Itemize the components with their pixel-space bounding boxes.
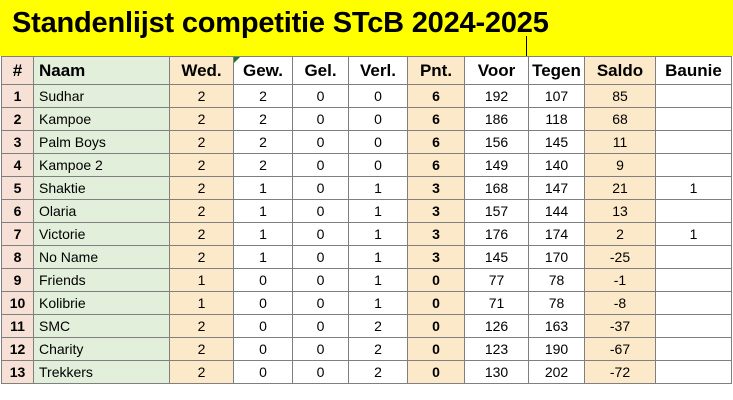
cell-gel[interactable]: 0 (293, 292, 349, 315)
cell-pnt[interactable]: 3 (408, 223, 465, 246)
cell-gew[interactable]: 0 (234, 315, 293, 338)
table-row[interactable]: 3Palm Boys2200615614511 (2, 131, 732, 154)
cell-baunie[interactable] (656, 315, 732, 338)
cell-pnt[interactable]: 0 (408, 338, 465, 361)
cell-naam[interactable]: Olaria (34, 200, 170, 223)
cell-saldo[interactable]: -1 (585, 269, 656, 292)
table-row[interactable]: 7Victorie2101317617421 (2, 223, 732, 246)
cell-gel[interactable]: 0 (293, 338, 349, 361)
cell-rank[interactable]: 7 (2, 223, 34, 246)
cell-saldo[interactable]: 21 (585, 177, 656, 200)
cell-naam[interactable]: Kampoe 2 (34, 154, 170, 177)
cell-tegen[interactable]: 145 (529, 131, 585, 154)
cell-gel[interactable]: 0 (293, 131, 349, 154)
column-header-baunie[interactable]: Baunie (656, 57, 732, 85)
cell-naam[interactable]: Trekkers (34, 361, 170, 384)
cell-voor[interactable]: 126 (465, 315, 529, 338)
cell-rank[interactable]: 12 (2, 338, 34, 361)
cell-verl[interactable]: 0 (349, 131, 408, 154)
column-header-gew[interactable]: Gew. (234, 57, 293, 85)
cell-verl[interactable]: 1 (349, 177, 408, 200)
table-header: #NaamWed.Gew.Gel.Verl.Pnt.VoorTegenSaldo… (2, 57, 732, 85)
cell-tegen[interactable]: 170 (529, 246, 585, 269)
cell-voor[interactable]: 157 (465, 200, 529, 223)
cell-baunie[interactable] (656, 154, 732, 177)
cell-gew[interactable]: 1 (234, 200, 293, 223)
cell-gew[interactable]: 0 (234, 292, 293, 315)
standings-table: #NaamWed.Gew.Gel.Verl.Pnt.VoorTegenSaldo… (1, 56, 732, 384)
cell-rank[interactable]: 1 (2, 85, 34, 108)
table-row[interactable]: 6Olaria2101315714413 (2, 200, 732, 223)
cell-pnt[interactable]: 0 (408, 315, 465, 338)
table-row[interactable]: 11SMC20020126163-37 (2, 315, 732, 338)
cell-gew[interactable]: 1 (234, 177, 293, 200)
cell-wed[interactable]: 2 (170, 223, 234, 246)
table-row[interactable]: 4Kampoe 2220061491409 (2, 154, 732, 177)
cell-gel[interactable]: 0 (293, 315, 349, 338)
page-title: Standenlijst competitie STcB 2024-2025 (12, 4, 549, 42)
title-banner: Standenlijst competitie STcB 2024-2025 (0, 0, 733, 56)
cell-voor[interactable]: 149 (465, 154, 529, 177)
cell-gew[interactable]: 1 (234, 246, 293, 269)
cell-pnt[interactable]: 0 (408, 269, 465, 292)
cell-voor[interactable]: 176 (465, 223, 529, 246)
cell-verl[interactable]: 1 (349, 269, 408, 292)
cell-baunie[interactable] (656, 131, 732, 154)
cell-pnt[interactable]: 6 (408, 108, 465, 131)
cell-tegen[interactable]: 144 (529, 200, 585, 223)
cell-wed[interactable]: 2 (170, 315, 234, 338)
cell-saldo[interactable]: 11 (585, 131, 656, 154)
cell-pnt[interactable]: 3 (408, 177, 465, 200)
cell-verl[interactable]: 0 (349, 154, 408, 177)
cell-tegen[interactable]: 107 (529, 85, 585, 108)
cell-gew[interactable]: 0 (234, 338, 293, 361)
title-banner-divider (526, 36, 527, 56)
table-row[interactable]: 9Friends100107778-1 (2, 269, 732, 292)
cell-gel[interactable]: 0 (293, 361, 349, 384)
cell-verl[interactable]: 2 (349, 315, 408, 338)
cell-tegen[interactable]: 202 (529, 361, 585, 384)
cell-baunie[interactable] (656, 200, 732, 223)
cell-wed[interactable]: 2 (170, 338, 234, 361)
cell-gel[interactable]: 0 (293, 154, 349, 177)
cell-saldo[interactable]: 2 (585, 223, 656, 246)
table-row[interactable]: 10Kolibrie100107178-8 (2, 292, 732, 315)
cell-verl[interactable]: 1 (349, 292, 408, 315)
column-header-voor[interactable]: Voor (465, 57, 529, 85)
cell-voor[interactable]: 71 (465, 292, 529, 315)
cell-pnt[interactable]: 6 (408, 85, 465, 108)
cell-baunie[interactable]: 1 (656, 223, 732, 246)
cell-pnt[interactable]: 0 (408, 361, 465, 384)
cell-voor[interactable]: 192 (465, 85, 529, 108)
cell-wed[interactable]: 1 (170, 292, 234, 315)
cell-gel[interactable]: 0 (293, 246, 349, 269)
cell-rank[interactable]: 13 (2, 361, 34, 384)
cell-saldo[interactable]: -37 (585, 315, 656, 338)
cell-rank[interactable]: 11 (2, 315, 34, 338)
cell-gel[interactable]: 0 (293, 223, 349, 246)
cell-gew[interactable]: 2 (234, 85, 293, 108)
cell-naam[interactable]: Sudhar (34, 85, 170, 108)
table-header-row: #NaamWed.Gew.Gel.Verl.Pnt.VoorTegenSaldo… (2, 57, 732, 85)
cell-baunie[interactable] (656, 292, 732, 315)
column-header-naam[interactable]: Naam (34, 57, 170, 85)
cell-baunie[interactable] (656, 269, 732, 292)
table-row[interactable]: 12Charity20020123190-67 (2, 338, 732, 361)
cell-note-marker-icon (234, 57, 240, 63)
cell-wed[interactable]: 2 (170, 177, 234, 200)
cell-rank[interactable]: 5 (2, 177, 34, 200)
cell-gew[interactable]: 0 (234, 361, 293, 384)
cell-gew[interactable]: 0 (234, 269, 293, 292)
cell-tegen[interactable]: 174 (529, 223, 585, 246)
cell-pnt[interactable]: 6 (408, 131, 465, 154)
cell-voor[interactable]: 123 (465, 338, 529, 361)
cell-rank[interactable]: 6 (2, 200, 34, 223)
table-row[interactable]: 1Sudhar2200619210785 (2, 85, 732, 108)
column-header-verl[interactable]: Verl. (349, 57, 408, 85)
cell-saldo[interactable]: -67 (585, 338, 656, 361)
cell-pnt[interactable]: 3 (408, 246, 465, 269)
cell-voor[interactable]: 168 (465, 177, 529, 200)
cell-naam[interactable]: Kolibrie (34, 292, 170, 315)
cell-rank[interactable]: 3 (2, 131, 34, 154)
cell-voor[interactable]: 130 (465, 361, 529, 384)
cell-gel[interactable]: 0 (293, 200, 349, 223)
cell-verl[interactable]: 2 (349, 338, 408, 361)
cell-saldo[interactable]: 13 (585, 200, 656, 223)
cell-voor[interactable]: 186 (465, 108, 529, 131)
table-row[interactable]: 2Kampoe2200618611868 (2, 108, 732, 131)
cell-verl[interactable]: 2 (349, 361, 408, 384)
column-header-saldo[interactable]: Saldo (585, 57, 656, 85)
cell-gew[interactable]: 2 (234, 108, 293, 131)
cell-tegen[interactable]: 140 (529, 154, 585, 177)
cell-wed[interactable]: 2 (170, 246, 234, 269)
cell-gel[interactable]: 0 (293, 85, 349, 108)
cell-naam[interactable]: Friends (34, 269, 170, 292)
cell-wed[interactable]: 2 (170, 85, 234, 108)
cell-verl[interactable]: 1 (349, 246, 408, 269)
table-row[interactable]: 5Shaktie21013168147211 (2, 177, 732, 200)
cell-naam[interactable]: Victorie (34, 223, 170, 246)
cell-verl[interactable]: 0 (349, 85, 408, 108)
cell-tegen[interactable]: 147 (529, 177, 585, 200)
column-header-tegen[interactable]: Tegen (529, 57, 585, 85)
cell-baunie[interactable] (656, 85, 732, 108)
cell-pnt[interactable]: 3 (408, 200, 465, 223)
cell-verl[interactable]: 1 (349, 223, 408, 246)
cell-gel[interactable]: 0 (293, 269, 349, 292)
cell-baunie[interactable]: 1 (656, 177, 732, 200)
cell-wed[interactable]: 1 (170, 269, 234, 292)
cell-tegen[interactable]: 78 (529, 269, 585, 292)
cell-gew[interactable]: 2 (234, 131, 293, 154)
cell-wed[interactable]: 2 (170, 108, 234, 131)
cell-baunie[interactable] (656, 338, 732, 361)
cell-tegen[interactable]: 190 (529, 338, 585, 361)
cell-voor[interactable]: 145 (465, 246, 529, 269)
cell-saldo[interactable]: 9 (585, 154, 656, 177)
cell-naam[interactable]: SMC (34, 315, 170, 338)
cell-baunie[interactable] (656, 361, 732, 384)
cell-saldo[interactable]: -25 (585, 246, 656, 269)
column-header-rank[interactable]: # (2, 57, 34, 85)
cell-baunie[interactable] (656, 108, 732, 131)
cell-gew[interactable]: 1 (234, 223, 293, 246)
cell-voor[interactable]: 77 (465, 269, 529, 292)
column-header-wed[interactable]: Wed. (170, 57, 234, 85)
cell-wed[interactable]: 2 (170, 154, 234, 177)
cell-voor[interactable]: 156 (465, 131, 529, 154)
cell-naam[interactable]: Shaktie (34, 177, 170, 200)
cell-saldo[interactable]: -8 (585, 292, 656, 315)
cell-verl[interactable]: 0 (349, 108, 408, 131)
cell-gew[interactable]: 2 (234, 154, 293, 177)
cell-naam[interactable]: No Name (34, 246, 170, 269)
cell-verl[interactable]: 1 (349, 200, 408, 223)
table-row[interactable]: 8No Name21013145170-25 (2, 246, 732, 269)
cell-rank[interactable]: 10 (2, 292, 34, 315)
cell-wed[interactable]: 2 (170, 131, 234, 154)
cell-naam[interactable]: Charity (34, 338, 170, 361)
table-body: 1Sudhar22006192107852Kampoe2200618611868… (2, 85, 732, 384)
cell-rank[interactable]: 2 (2, 108, 34, 131)
cell-tegen[interactable]: 78 (529, 292, 585, 315)
cell-saldo[interactable]: -72 (585, 361, 656, 384)
cell-tegen[interactable]: 118 (529, 108, 585, 131)
cell-wed[interactable]: 2 (170, 361, 234, 384)
column-header-gel[interactable]: Gel. (293, 57, 349, 85)
cell-gel[interactable]: 0 (293, 177, 349, 200)
cell-naam[interactable]: Kampoe (34, 108, 170, 131)
cell-wed[interactable]: 2 (170, 200, 234, 223)
cell-pnt[interactable]: 0 (408, 292, 465, 315)
cell-tegen[interactable]: 163 (529, 315, 585, 338)
cell-naam[interactable]: Palm Boys (34, 131, 170, 154)
spreadsheet-standings-sheet: Standenlijst competitie STcB 2024-2025 #… (0, 0, 733, 400)
cell-baunie[interactable] (656, 246, 732, 269)
column-header-pnt[interactable]: Pnt. (408, 57, 465, 85)
table-row[interactable]: 13Trekkers20020130202-72 (2, 361, 732, 384)
cell-gel[interactable]: 0 (293, 108, 349, 131)
cell-rank[interactable]: 9 (2, 269, 34, 292)
cell-saldo[interactable]: 68 (585, 108, 656, 131)
cell-rank[interactable]: 8 (2, 246, 34, 269)
cell-pnt[interactable]: 6 (408, 154, 465, 177)
cell-rank[interactable]: 4 (2, 154, 34, 177)
cell-saldo[interactable]: 85 (585, 85, 656, 108)
